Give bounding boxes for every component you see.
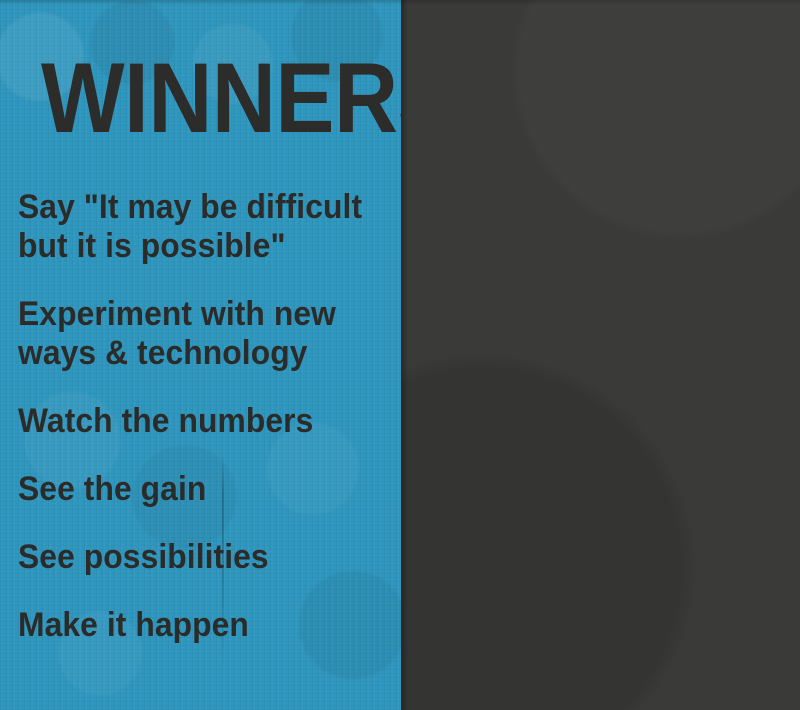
winners-list: Say "It may be difficult but it is possi… bbox=[18, 188, 390, 645]
list-item: See the gain bbox=[18, 470, 366, 509]
list-item: See possibilities bbox=[18, 538, 366, 577]
losers-content: LOSERS Say "It may be possible but it is… bbox=[401, 0, 800, 710]
winners-panel: WINNERS Say "It may be difficult but it … bbox=[0, 0, 401, 710]
list-item: Experiment with new ways & technology bbox=[18, 295, 366, 373]
list-item: Say "It may be difficult but it is possi… bbox=[18, 188, 366, 266]
list-item: Watch the numbers bbox=[18, 402, 366, 441]
winners-content: WINNERS Say "It may be difficult but it … bbox=[0, 0, 401, 710]
losers-panel: LOSERS Say "It may be possible but it is… bbox=[401, 0, 800, 710]
winners-heading: WINNERS bbox=[41, 48, 401, 147]
list-item: Make it happen bbox=[18, 606, 366, 645]
winners-losers-poster: WINNERS Say "It may be difficult but it … bbox=[0, 0, 800, 710]
